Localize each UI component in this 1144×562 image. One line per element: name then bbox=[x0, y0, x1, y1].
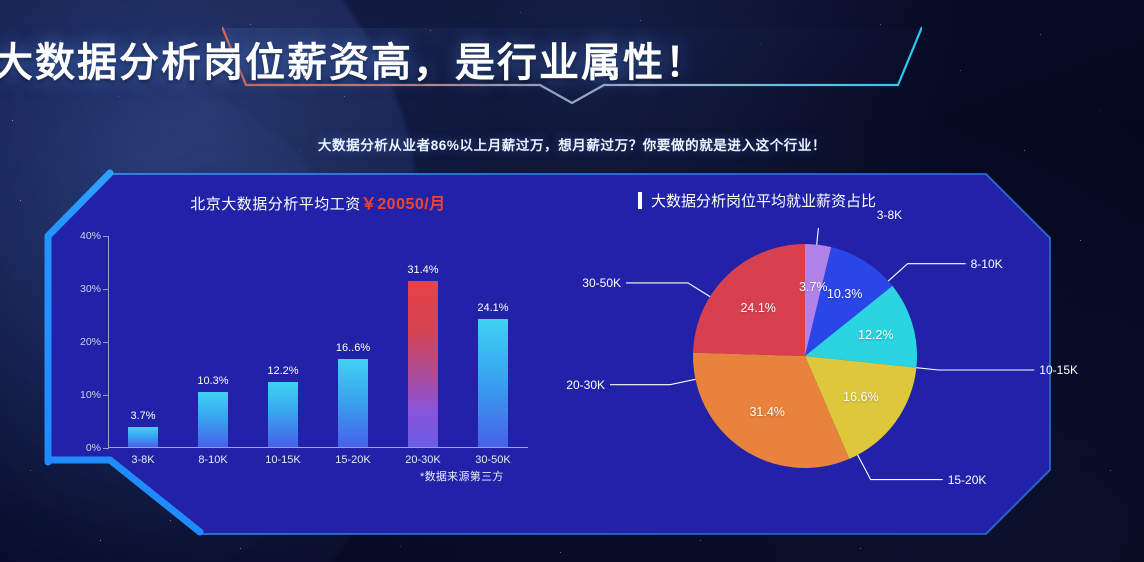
bar-group: 3.7%10.3%12.2%16..6%31.4%24.1% bbox=[108, 236, 528, 447]
pie-leader-line bbox=[858, 455, 943, 480]
pie-leader-line bbox=[916, 368, 1034, 370]
x-tick-label: 8-10K bbox=[178, 454, 248, 466]
bar-plot-area: 0%10%20%30%40% 3.7%10.3%12.2%16..6%31.4%… bbox=[108, 236, 528, 448]
pie-category-label: 20-30K bbox=[566, 378, 605, 392]
headline-banner: 大数据分析岗位薪资高，是行业属性！ bbox=[0, 26, 1144, 106]
x-tick-label: 30-50K bbox=[458, 454, 528, 466]
pie-category-label: 8-10K bbox=[971, 257, 1003, 271]
bar-item[interactable]: 24.1% bbox=[458, 236, 528, 447]
x-tick-label: 10-15K bbox=[248, 454, 318, 466]
x-tick-labels: 3-8K8-10K10-15K15-20K20-30K30-50K bbox=[108, 454, 528, 466]
page-subtitle: 大数据分析从业者86%以上月薪过万，想月薪过万？你要做的就是进入这个行业！ bbox=[0, 134, 1144, 154]
bar-chart-title: 北京大数据分析平均工资￥20050/月 bbox=[108, 190, 528, 214]
pie-value-label: 24.1% bbox=[740, 301, 775, 315]
bar[interactable] bbox=[198, 392, 228, 447]
bar-chart: 北京大数据分析平均工资￥20050/月 0%10%20%30%40% 3.7%1… bbox=[108, 190, 528, 490]
bar[interactable] bbox=[478, 319, 508, 447]
pie-leader-line bbox=[888, 264, 965, 281]
star bbox=[860, 548, 861, 549]
title-accent-bar-icon bbox=[638, 192, 642, 209]
pie-chart: 大数据分析岗位平均就业薪资占比 3.7%10.3%12.2%16.6%31.4%… bbox=[610, 190, 1040, 490]
star bbox=[1100, 110, 1101, 111]
pie-plot-area: 3.7%10.3%12.2%16.6%31.4%24.1%3-8K8-10K10… bbox=[610, 228, 1040, 488]
bar-chart-title-text: 北京大数据分析平均工资 bbox=[190, 196, 361, 213]
bar-item[interactable]: 10.3% bbox=[178, 236, 248, 447]
page-title: 大数据分析岗位薪资高，是行业属性！ bbox=[0, 30, 700, 88]
x-tick-label: 3-8K bbox=[108, 454, 178, 466]
pie-leader-line bbox=[626, 283, 710, 297]
star bbox=[20, 200, 21, 201]
pie-value-label: 12.2% bbox=[858, 328, 893, 342]
x-axis bbox=[108, 447, 528, 448]
bar[interactable] bbox=[408, 281, 438, 447]
x-tick-label: 15-20K bbox=[318, 454, 388, 466]
star bbox=[520, 12, 521, 13]
pie-chart-title: 大数据分析岗位平均就业薪资占比 bbox=[610, 190, 1040, 211]
star bbox=[1080, 240, 1081, 241]
bar-value-label: 24.1% bbox=[477, 302, 508, 314]
bar-value-label: 10.3% bbox=[197, 375, 228, 387]
bar[interactable] bbox=[128, 427, 158, 447]
star bbox=[240, 548, 241, 549]
pie-leader-line bbox=[610, 379, 695, 384]
pie-leader-line bbox=[817, 228, 872, 245]
bar-value-label: 16..6% bbox=[336, 342, 370, 354]
bar-value-label: 3.7% bbox=[130, 410, 155, 422]
star bbox=[250, 24, 251, 25]
pie-value-label: 3.7% bbox=[799, 280, 828, 294]
star bbox=[880, 24, 881, 25]
bar[interactable] bbox=[268, 382, 298, 447]
bar-item[interactable]: 12.2% bbox=[248, 236, 318, 447]
pie-value-label: 16.6% bbox=[843, 390, 878, 404]
star bbox=[100, 540, 101, 541]
star bbox=[30, 470, 31, 471]
bar-item[interactable]: 3.7% bbox=[108, 236, 178, 447]
bar-value-label: 31.4% bbox=[407, 264, 438, 276]
pie-category-label: 30-50K bbox=[582, 276, 621, 290]
pie-value-label: 10.3% bbox=[827, 287, 862, 301]
x-tick-label: 20-30K bbox=[388, 454, 458, 466]
bar-item[interactable]: 16..6% bbox=[318, 236, 388, 447]
y-tick-mark bbox=[103, 448, 109, 449]
charts-panel: 北京大数据分析平均工资￥20050/月 0%10%20%30%40% 3.7%1… bbox=[40, 168, 1056, 540]
bar-item[interactable]: 31.4% bbox=[388, 236, 458, 447]
star bbox=[12, 120, 13, 121]
star bbox=[700, 540, 701, 541]
data-source-note: *数据来源第三方 bbox=[420, 468, 504, 484]
pie-chart-title-text: 大数据分析岗位平均就业薪资占比 bbox=[651, 190, 876, 211]
bar-value-label: 12.2% bbox=[267, 365, 298, 377]
pie-category-label: 3-8K bbox=[877, 208, 902, 222]
pie-value-label: 31.4% bbox=[749, 405, 784, 419]
pie-category-label: 15-20K bbox=[948, 473, 987, 487]
star bbox=[400, 546, 401, 547]
average-salary-value: ￥20050/月 bbox=[361, 196, 446, 213]
star bbox=[640, 20, 641, 21]
pie-category-label: 10-15K bbox=[1039, 363, 1078, 377]
bar[interactable] bbox=[338, 359, 368, 447]
star bbox=[1110, 470, 1111, 471]
star bbox=[560, 552, 561, 553]
